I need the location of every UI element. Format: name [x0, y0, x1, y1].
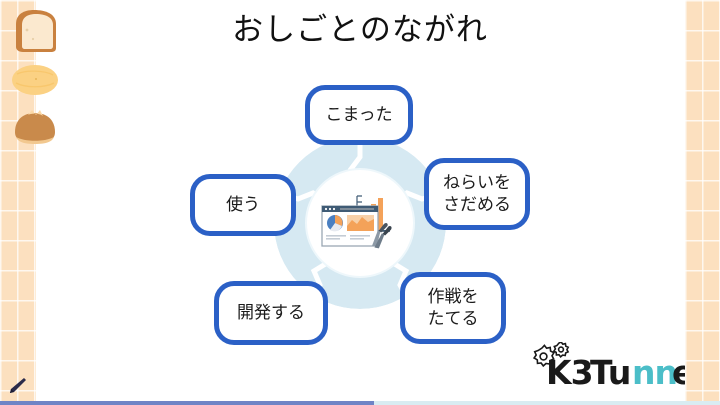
cycle-step-label: こまった — [325, 104, 392, 126]
slide-canvas: おしごとのながれ — [0, 0, 720, 405]
svg-text:nn: nn — [632, 353, 677, 390]
cycle-step-label: 開発する — [237, 302, 305, 324]
dashboard-chart-icon — [316, 192, 404, 254]
round-bun-icon — [11, 108, 59, 148]
cycle-step-label: ねらいを さだめる — [443, 172, 511, 216]
cycle-step-label: 作戦を たてる — [428, 286, 479, 330]
cycle-step-tsukau[interactable]: 使う — [190, 174, 296, 236]
melon-bread-icon — [10, 62, 60, 98]
pencil-icon[interactable] — [6, 376, 28, 396]
cycle-step-komatta[interactable]: こまった — [305, 85, 413, 145]
cycle-step-sakusen[interactable]: 作戦を たてる — [400, 272, 506, 344]
progress-bar-fill — [0, 401, 374, 405]
svg-text:K3: K3 — [546, 353, 593, 390]
decorative-left-strip — [0, 0, 36, 405]
progress-bar-track[interactable] — [0, 401, 720, 405]
k3tunnel-logo: K3 Tu nn el — [528, 342, 700, 390]
cycle-step-kaihatsu[interactable]: 開発する — [214, 281, 328, 345]
cycle-step-label: 使う — [226, 194, 260, 216]
slide-title: おしごとのながれ — [0, 8, 720, 52]
decorative-right-strip — [685, 0, 720, 405]
svg-text:Tu: Tu — [590, 353, 630, 390]
cycle-step-nerai[interactable]: ねらいを さだめる — [424, 158, 530, 230]
